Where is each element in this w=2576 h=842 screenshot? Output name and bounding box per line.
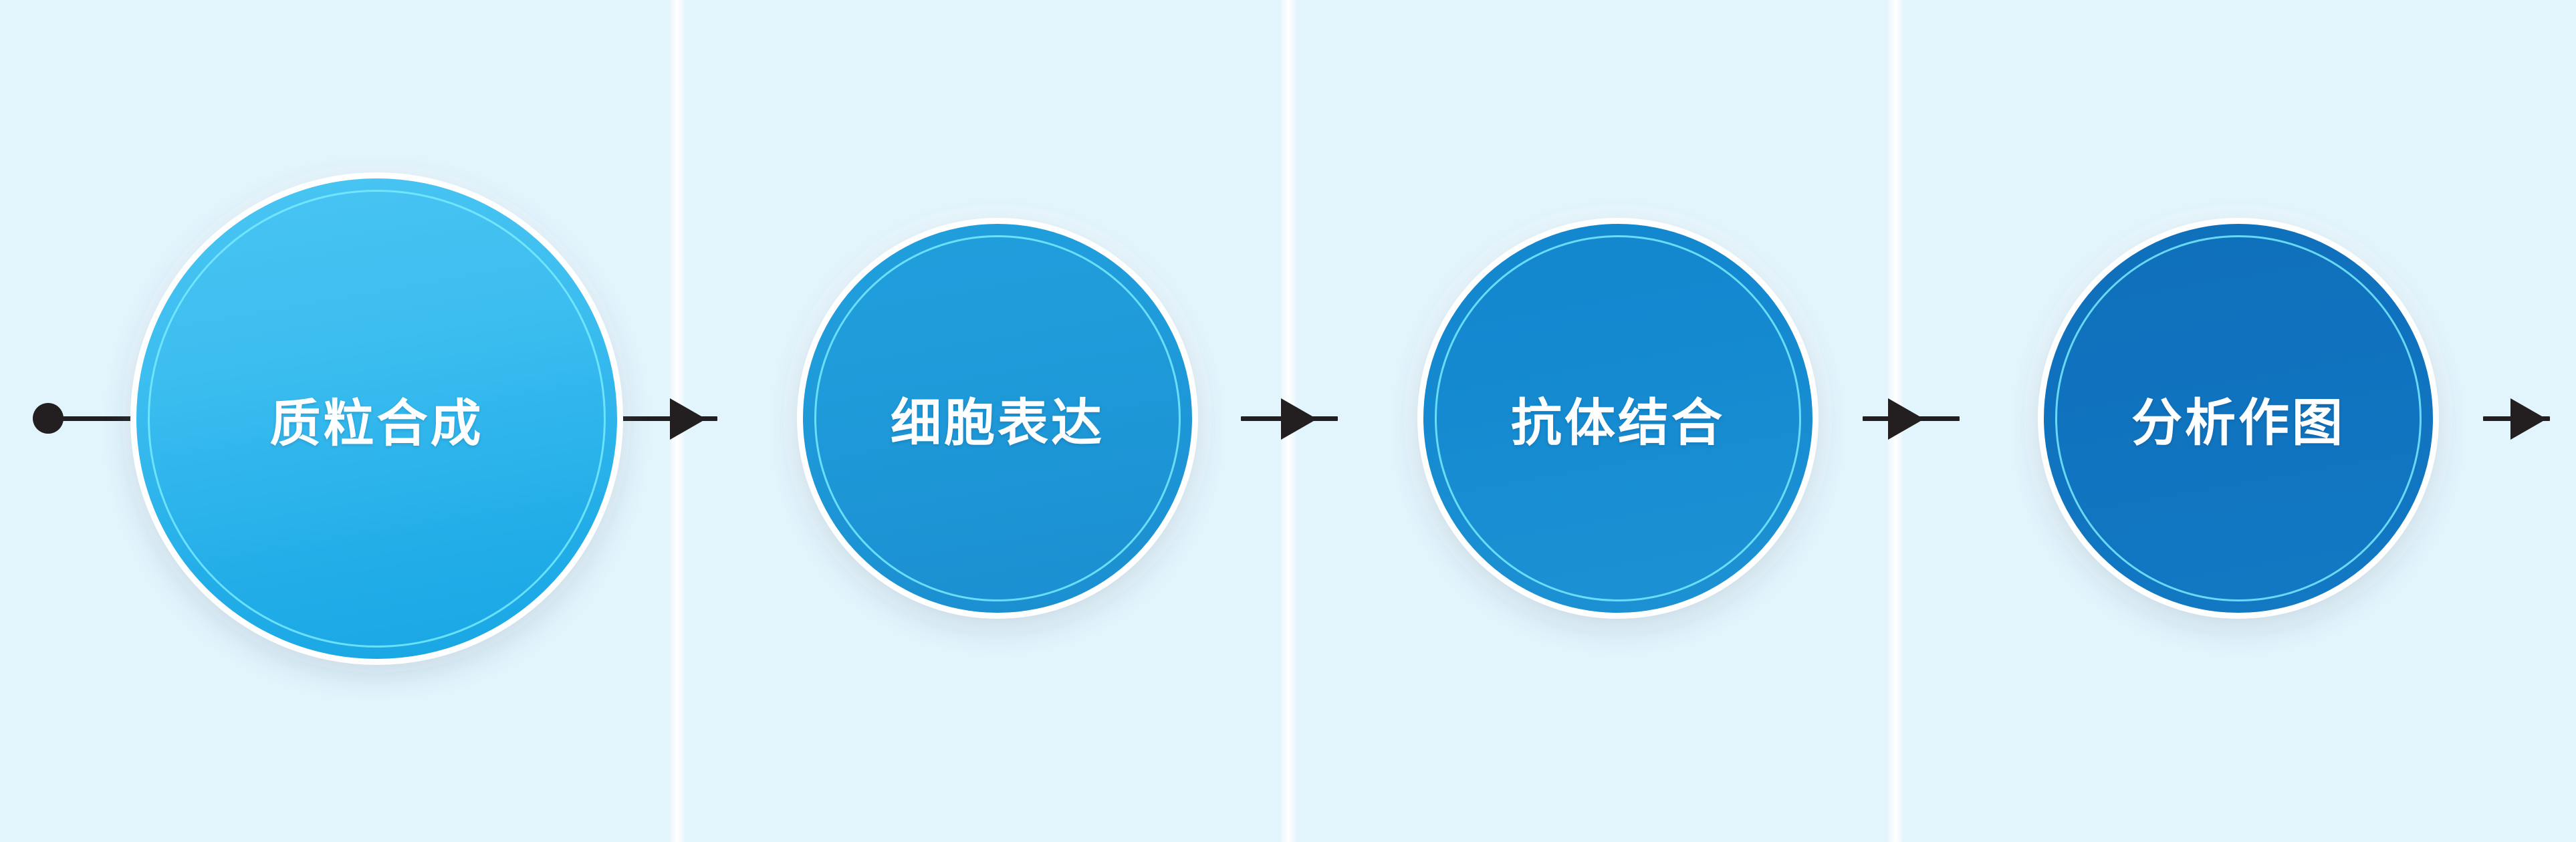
step-2-label: 细胞表达 <box>891 382 1104 455</box>
start-marker-dot <box>33 403 64 434</box>
step-4-label: 分析作图 <box>2131 382 2345 455</box>
arrow-head-end <box>2510 398 2547 440</box>
process-step-2[interactable]: 细胞表达 <box>797 218 1198 619</box>
arrow-head-2-3 <box>1281 398 1317 440</box>
process-step-4[interactable]: 分析作图 <box>2038 218 2439 619</box>
process-step-3[interactable]: 抗体结合 <box>1417 218 1819 619</box>
step-3-label: 抗体结合 <box>1511 382 1725 455</box>
arrow-head-3-4 <box>1888 398 1924 440</box>
process-flow-diagram: 质粒合成 细胞表达 抗体结合 分析作图 <box>0 0 2576 842</box>
arrow-head-1-2 <box>670 398 706 440</box>
step-1-label: 质粒合成 <box>270 382 484 456</box>
process-step-1[interactable]: 质粒合成 <box>130 172 623 665</box>
